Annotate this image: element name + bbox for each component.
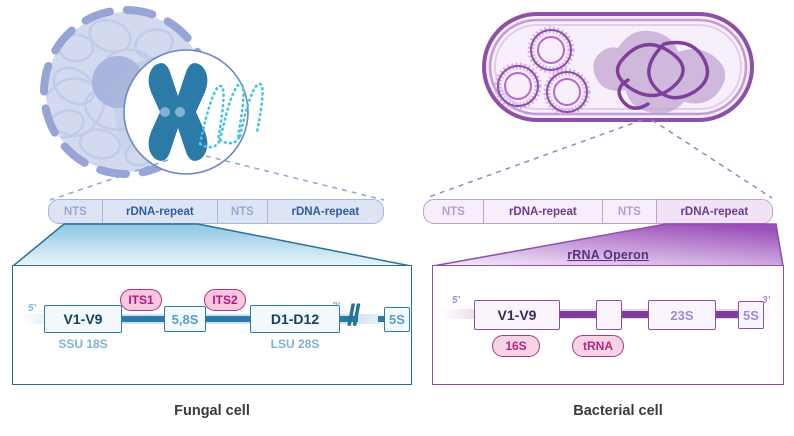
fungal-nts-segment-1: NTS (49, 200, 103, 223)
fungal-spacer-badge-its2: ITS2 (204, 289, 246, 311)
bacterial-connector-lines (420, 118, 790, 202)
fungal-gene-box-58s: 5,8S (164, 306, 206, 332)
fungal-spacer-badge-its1: ITS1 (120, 289, 162, 311)
fungal-five-prime-label: 5' (28, 303, 36, 314)
fungal-gene-box-5s: 5S (384, 307, 410, 332)
bacterial-nts-segment-2: NTS (603, 200, 657, 223)
bacterial-badge-16s: 16S (492, 335, 540, 357)
bacterial-nts-segment-1: NTS (424, 200, 484, 223)
fungal-nts-segment-2: NTS (218, 200, 268, 223)
bacterial-gene-box-23s: 23S (648, 300, 716, 330)
fungal-gene-box-v1v9: V1-V9 (44, 305, 122, 333)
fungal-gene-sublabel-ssu: SSU 18S (44, 337, 122, 351)
fungal-rdna-repeat-bar: NTS rDNA-repeat NTS rDNA-repeat (48, 199, 384, 224)
bacterial-gene-box-trna (596, 300, 622, 330)
fungal-gene-box-d1d12: D1-D12 (250, 305, 340, 333)
fungal-rdna-repeat-segment-1: rDNA-repeat (103, 200, 218, 223)
bacterial-gene-box-v1v9: V1-V9 (474, 300, 560, 330)
bacterial-five-prime-label: 5' (452, 295, 460, 306)
fungal-connector-lines (40, 150, 390, 205)
bacterial-cell-caption: Bacterial cell (468, 403, 768, 419)
bacterial-rdna-repeat-bar: NTS rDNA-repeat NTS rDNA-repeat (423, 199, 773, 224)
bacterial-rdna-repeat-segment-2: rDNA-repeat (657, 200, 772, 223)
fungal-zoom-funnel (12, 223, 412, 268)
fungal-cell-caption: Fungal cell (62, 403, 362, 419)
bacterial-gene-box-5s: 5S (738, 301, 764, 329)
bacterial-rdna-repeat-segment-1: rDNA-repeat (484, 200, 603, 223)
rrna-operon-title: rRNA Operon (432, 248, 784, 262)
figure-canvas: NTS rDNA-repeat NTS rDNA-repeat (0, 0, 794, 436)
fungal-gene-sublabel-lsu: LSU 28S (250, 337, 340, 351)
fungal-rdna-repeat-segment-2: rDNA-repeat (268, 200, 383, 223)
fungal-sequence-break: // (347, 301, 358, 331)
bacterial-gene-map: 5' 3' V1-V9 23S 5S 16S tRNA (432, 265, 784, 385)
bacterium-rod-icon (478, 8, 758, 126)
bacterial-badge-trna: tRNA (572, 335, 624, 357)
fungal-gene-map: 5' 3' // V1-V9 SSU 18S 5,8S D1-D12 LSU 2… (12, 265, 412, 385)
